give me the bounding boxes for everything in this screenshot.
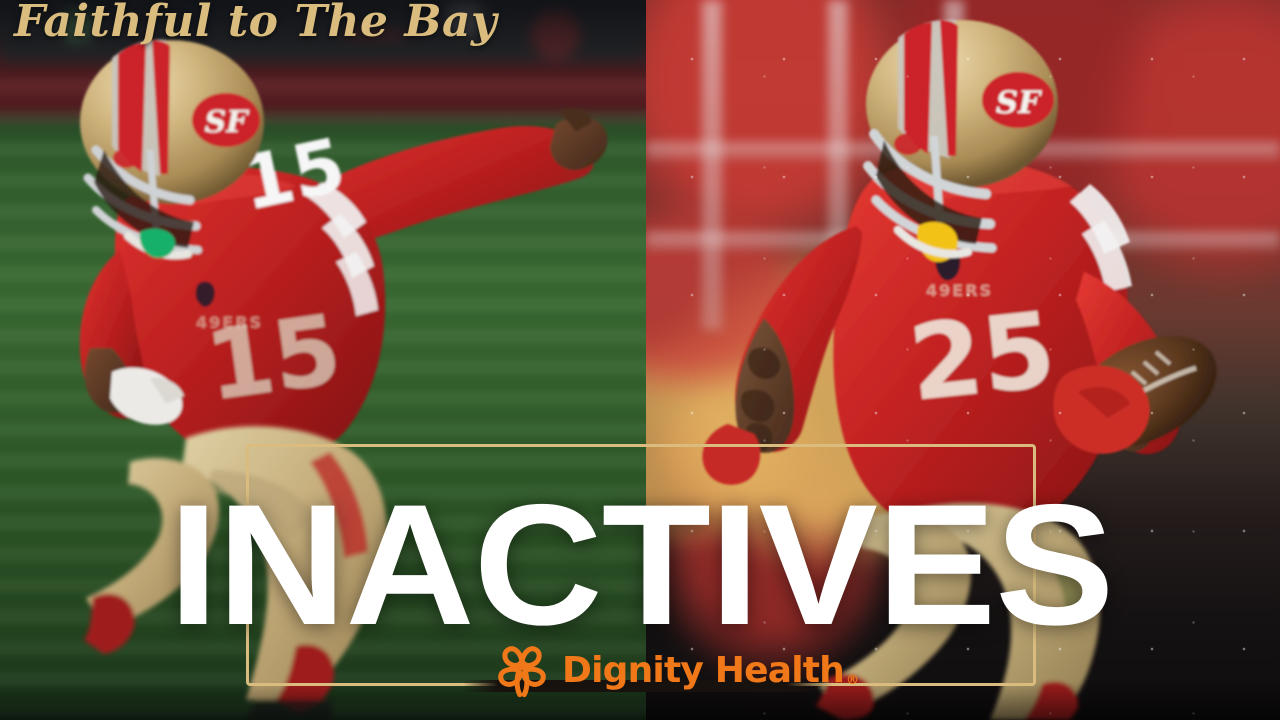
svg-text:15: 15 — [200, 293, 348, 423]
faithful-to-the-bay-wordmark: Faithful to The Bay — [14, 0, 497, 47]
sponsor-name: Dignity Health® — [562, 653, 856, 689]
inactives-graphic: 49ERS 15 15 SF — [0, 0, 1280, 720]
registered-trademark-symbol: ® — [846, 673, 858, 688]
sponsor-logo: Dignity Health® — [494, 641, 856, 699]
svg-text:SF: SF — [205, 105, 251, 140]
dignity-health-lotus-icon — [494, 642, 550, 698]
sponsor-name-text: Dignity Health — [562, 650, 844, 691]
